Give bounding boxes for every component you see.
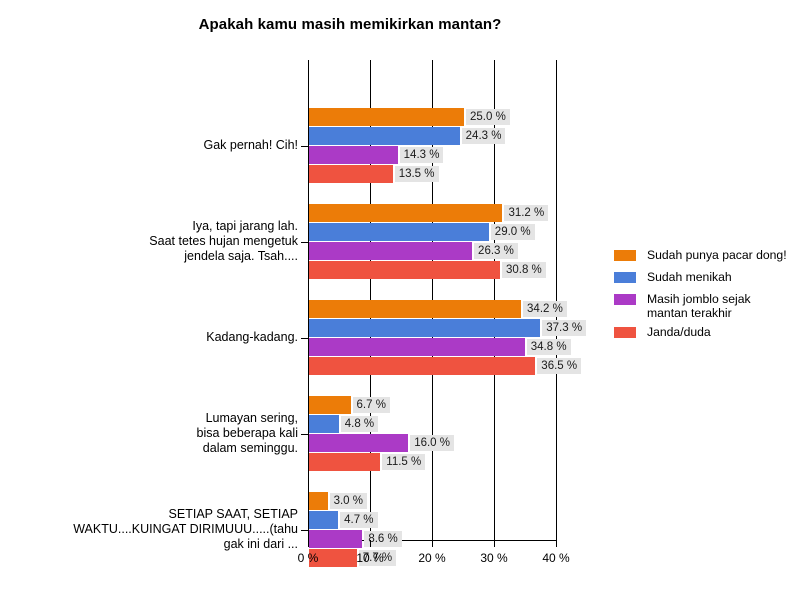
legend-swatch-icon — [614, 294, 636, 305]
legend-label: Janda/duda — [647, 325, 711, 339]
category-tick — [301, 434, 308, 435]
bar-value-label: 31.2 % — [504, 205, 548, 221]
category-label: SETIAP SAAT, SETIAP WAKTU....KUINGAT DIR… — [8, 507, 298, 552]
legend-label: Masih jomblo sejak mantan terakhir — [647, 292, 751, 320]
bar[interactable] — [309, 338, 525, 356]
bar-value-label: 6.7 % — [353, 397, 390, 413]
gridline-40 — [556, 60, 557, 540]
bar-value-label: 11.5 % — [382, 454, 425, 470]
legend-label: Sudah punya pacar dong! — [647, 248, 787, 262]
bar[interactable] — [309, 242, 472, 260]
x-axis-tick-label: 30 % — [464, 551, 524, 565]
bar-row[interactable]: 30.8 % — [309, 261, 556, 279]
bar[interactable] — [309, 165, 393, 183]
bar-row[interactable]: 29.0 % — [309, 223, 556, 241]
bar-row[interactable]: 4.7 % — [309, 511, 556, 529]
legend-item[interactable]: Sudah punya pacar dong! — [614, 248, 787, 262]
bar-group: 6.7 %4.8 %16.0 %11.5 % — [309, 396, 556, 472]
bar-value-label: 3.0 % — [330, 493, 367, 509]
bar[interactable] — [309, 434, 408, 452]
bar[interactable] — [309, 300, 521, 318]
x-axis-tick-label: 10 % — [340, 551, 400, 565]
bar[interactable] — [309, 530, 362, 548]
legend-item[interactable]: Sudah menikah — [614, 270, 732, 284]
bar-row[interactable]: 25.0 % — [309, 108, 556, 126]
bar-value-label: 25.0 % — [466, 109, 510, 125]
bar-row[interactable]: 34.2 % — [309, 300, 556, 318]
bar[interactable] — [309, 415, 339, 433]
bar[interactable] — [309, 204, 502, 222]
category-tick — [301, 242, 308, 243]
chart-title: Apakah kamu masih memikirkan mantan? — [0, 16, 700, 33]
bar-row[interactable]: 31.2 % — [309, 204, 556, 222]
bar-value-label: 24.3 % — [462, 128, 506, 144]
bar[interactable] — [309, 357, 535, 375]
legend-label: Sudah menikah — [647, 270, 732, 284]
bar[interactable] — [309, 492, 328, 510]
bar-value-label: 36.5 % — [537, 358, 581, 374]
legend-item[interactable]: Masih jomblo sejak mantan terakhir — [614, 292, 751, 320]
bar-value-label: 14.3 % — [400, 147, 444, 163]
bar-value-label: 16.0 % — [410, 435, 454, 451]
bar-row[interactable]: 34.8 % — [309, 338, 556, 356]
bar[interactable] — [309, 261, 500, 279]
bar[interactable] — [309, 223, 489, 241]
legend-swatch-icon — [614, 272, 636, 283]
x-axis-tick — [308, 540, 309, 547]
category-tick — [301, 530, 308, 531]
bar[interactable] — [309, 453, 380, 471]
legend-item[interactable]: Janda/duda — [614, 325, 711, 339]
category-tick — [301, 146, 308, 147]
bar-group: 34.2 %37.3 %34.8 %36.5 % — [309, 300, 556, 376]
bar[interactable] — [309, 396, 351, 414]
bar-value-label: 30.8 % — [502, 262, 546, 278]
plot-area: 25.0 %24.3 %14.3 %13.5 %31.2 %29.0 %26.3… — [308, 60, 556, 540]
bar-group: 31.2 %29.0 %26.3 %30.8 % — [309, 204, 556, 280]
category-tick — [301, 338, 308, 339]
bar[interactable] — [309, 511, 338, 529]
bar-value-label: 29.0 % — [491, 224, 535, 240]
bar[interactable] — [309, 319, 540, 337]
category-label: Lumayan sering, bisa beberapa kali dalam… — [8, 411, 298, 456]
bar-chart: Apakah kamu masih memikirkan mantan? 25.… — [0, 0, 800, 600]
bar-row[interactable]: 36.5 % — [309, 357, 556, 375]
bar-value-label: 4.7 % — [340, 512, 377, 528]
legend-swatch-icon — [614, 250, 636, 261]
x-axis-tick-label: 40 % — [526, 551, 586, 565]
bar-value-label: 37.3 % — [542, 320, 586, 336]
bar-row[interactable]: 4.8 % — [309, 415, 556, 433]
bar-row[interactable]: 37.3 % — [309, 319, 556, 337]
bar-row[interactable]: 24.3 % — [309, 127, 556, 145]
bar-value-label: 34.2 % — [523, 301, 567, 317]
x-axis-tick — [494, 540, 495, 547]
bar-value-label: 26.3 % — [474, 243, 518, 259]
legend-swatch-icon — [614, 327, 636, 338]
x-axis-tick — [432, 540, 433, 547]
category-label: Gak pernah! Cih! — [8, 138, 298, 153]
bar[interactable] — [309, 127, 460, 145]
x-axis-tick — [556, 540, 557, 547]
bar-row[interactable]: 11.5 % — [309, 453, 556, 471]
bar-value-label: 34.8 % — [527, 339, 571, 355]
category-label: Kadang-kadang. — [8, 330, 298, 345]
bar[interactable] — [309, 108, 464, 126]
x-axis-tick-label: 0 % — [278, 551, 338, 565]
bar[interactable] — [309, 146, 398, 164]
bar-group: 25.0 %24.3 %14.3 %13.5 % — [309, 108, 556, 184]
x-axis-tick-label: 20 % — [402, 551, 462, 565]
bar-row[interactable]: 26.3 % — [309, 242, 556, 260]
bar-value-label: 4.8 % — [341, 416, 378, 432]
bar-row[interactable]: 14.3 % — [309, 146, 556, 164]
bar-value-label: 13.5 % — [395, 166, 439, 182]
bar-row[interactable]: 6.7 % — [309, 396, 556, 414]
x-axis-tick — [370, 540, 371, 547]
bar-row[interactable]: 3.0 % — [309, 492, 556, 510]
bar-row[interactable]: 13.5 % — [309, 165, 556, 183]
category-label: Iya, tapi jarang lah. Saat tetes hujan m… — [8, 219, 298, 264]
bar-row[interactable]: 16.0 % — [309, 434, 556, 452]
